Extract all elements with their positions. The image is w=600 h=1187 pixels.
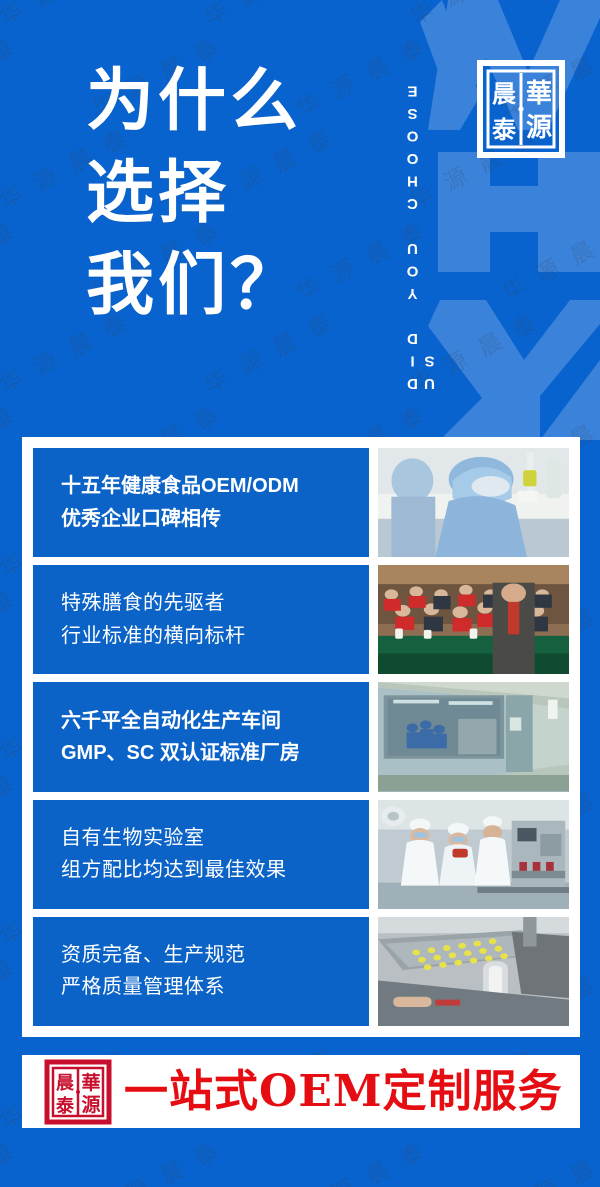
card-biolab: 自有生物实验室 组方配比均达到最佳效果 <box>33 800 569 909</box>
photo-conference-audience <box>378 565 569 674</box>
cards-list: 十五年健康食品OEM/ODM 优秀企业口碑相传 <box>33 448 569 1026</box>
title-line-1: 为什么 <box>86 56 386 148</box>
footer-slogan: 一站式OEM定制服务 <box>124 1070 563 1114</box>
footer-banner: 華 源 晨 泰 一站式OEM定制服务 <box>22 1055 580 1128</box>
watermark-text: 华源晨泰 <box>84 1125 238 1187</box>
footer-seal-icon: 華 源 晨 泰 <box>44 1059 112 1125</box>
card-line: 自有生物实验室 <box>61 822 369 854</box>
card-line: 严格质量管理体系 <box>61 971 369 1003</box>
card-text-block: 六千平全自动化生产车间 GMP、SC 双认证标准厂房 <box>33 682 369 791</box>
page-title: 为什么 选择 我们？ <box>86 56 386 331</box>
svg-text:華: 華 <box>81 1071 100 1094</box>
watermark-text: 华源晨泰 <box>289 1125 443 1187</box>
company-seal-icon: 華 源 晨 泰 <box>477 60 565 158</box>
header-section: 为什么 选择 我们？ DID YOU CHOOSE US 華 源 晨 泰 <box>0 0 600 437</box>
svg-text:晨: 晨 <box>492 79 517 108</box>
photo-lab-technician-pipette <box>378 448 569 557</box>
card-text-block: 特殊膳食的先驱者 行业标准的横向标杆 <box>33 565 369 674</box>
photo-cleanroom-corridor <box>378 682 569 791</box>
card-line: 组方配比均达到最佳效果 <box>61 854 369 886</box>
card-line: 特殊膳食的先驱者 <box>61 587 369 619</box>
vertical-tagline: DID YOU CHOOSE US <box>404 20 430 392</box>
svg-text:泰: 泰 <box>492 115 517 144</box>
card-text-block: 资质完备、生产规范 严格质量管理体系 <box>33 917 369 1026</box>
card-text-block: 十五年健康食品OEM/ODM 优秀企业口碑相传 <box>33 448 369 557</box>
photo-tablet-packaging-machine <box>378 917 569 1026</box>
svg-text:泰: 泰 <box>55 1095 75 1117</box>
watermark-text: 华源晨泰 <box>0 1125 33 1187</box>
card-text-block: 自有生物实验室 组方配比均达到最佳效果 <box>33 800 369 909</box>
card-line: 六千平全自动化生产车间 <box>61 705 369 737</box>
title-line-2: 选择 <box>86 148 386 240</box>
card-line: 十五年健康食品OEM/ODM <box>61 470 369 502</box>
watermark-text: 华源晨泰 <box>494 1125 600 1187</box>
card-line: 行业标准的横向标杆 <box>61 620 369 652</box>
card-line: 优秀企业口碑相传 <box>61 503 369 535</box>
svg-text:源: 源 <box>81 1093 100 1116</box>
card-workshop: 六千平全自动化生产车间 GMP、SC 双认证标准厂房 <box>33 682 569 791</box>
svg-text:華: 華 <box>526 79 552 109</box>
card-special-diet: 特殊膳食的先驱者 行业标准的横向标杆 <box>33 565 569 674</box>
poster-root: 为什么 选择 我们？ DID YOU CHOOSE US 華 源 晨 泰 华源晨… <box>0 0 600 1187</box>
svg-text:晨: 晨 <box>56 1073 75 1094</box>
card-oem-odm: 十五年健康食品OEM/ODM 优秀企业口碑相传 <box>33 448 569 557</box>
photo-staff-production-line <box>378 800 569 909</box>
svg-text:源: 源 <box>526 113 552 143</box>
card-line: GMP、SC 双认证标准厂房 <box>61 737 369 769</box>
cards-frame: 十五年健康食品OEM/ODM 优秀企业口碑相传 <box>22 437 580 1037</box>
card-line: 资质完备、生产规范 <box>61 939 369 971</box>
title-line-3: 我们？ <box>86 240 386 332</box>
card-quality: 资质完备、生产规范 严格质量管理体系 <box>33 917 569 1026</box>
